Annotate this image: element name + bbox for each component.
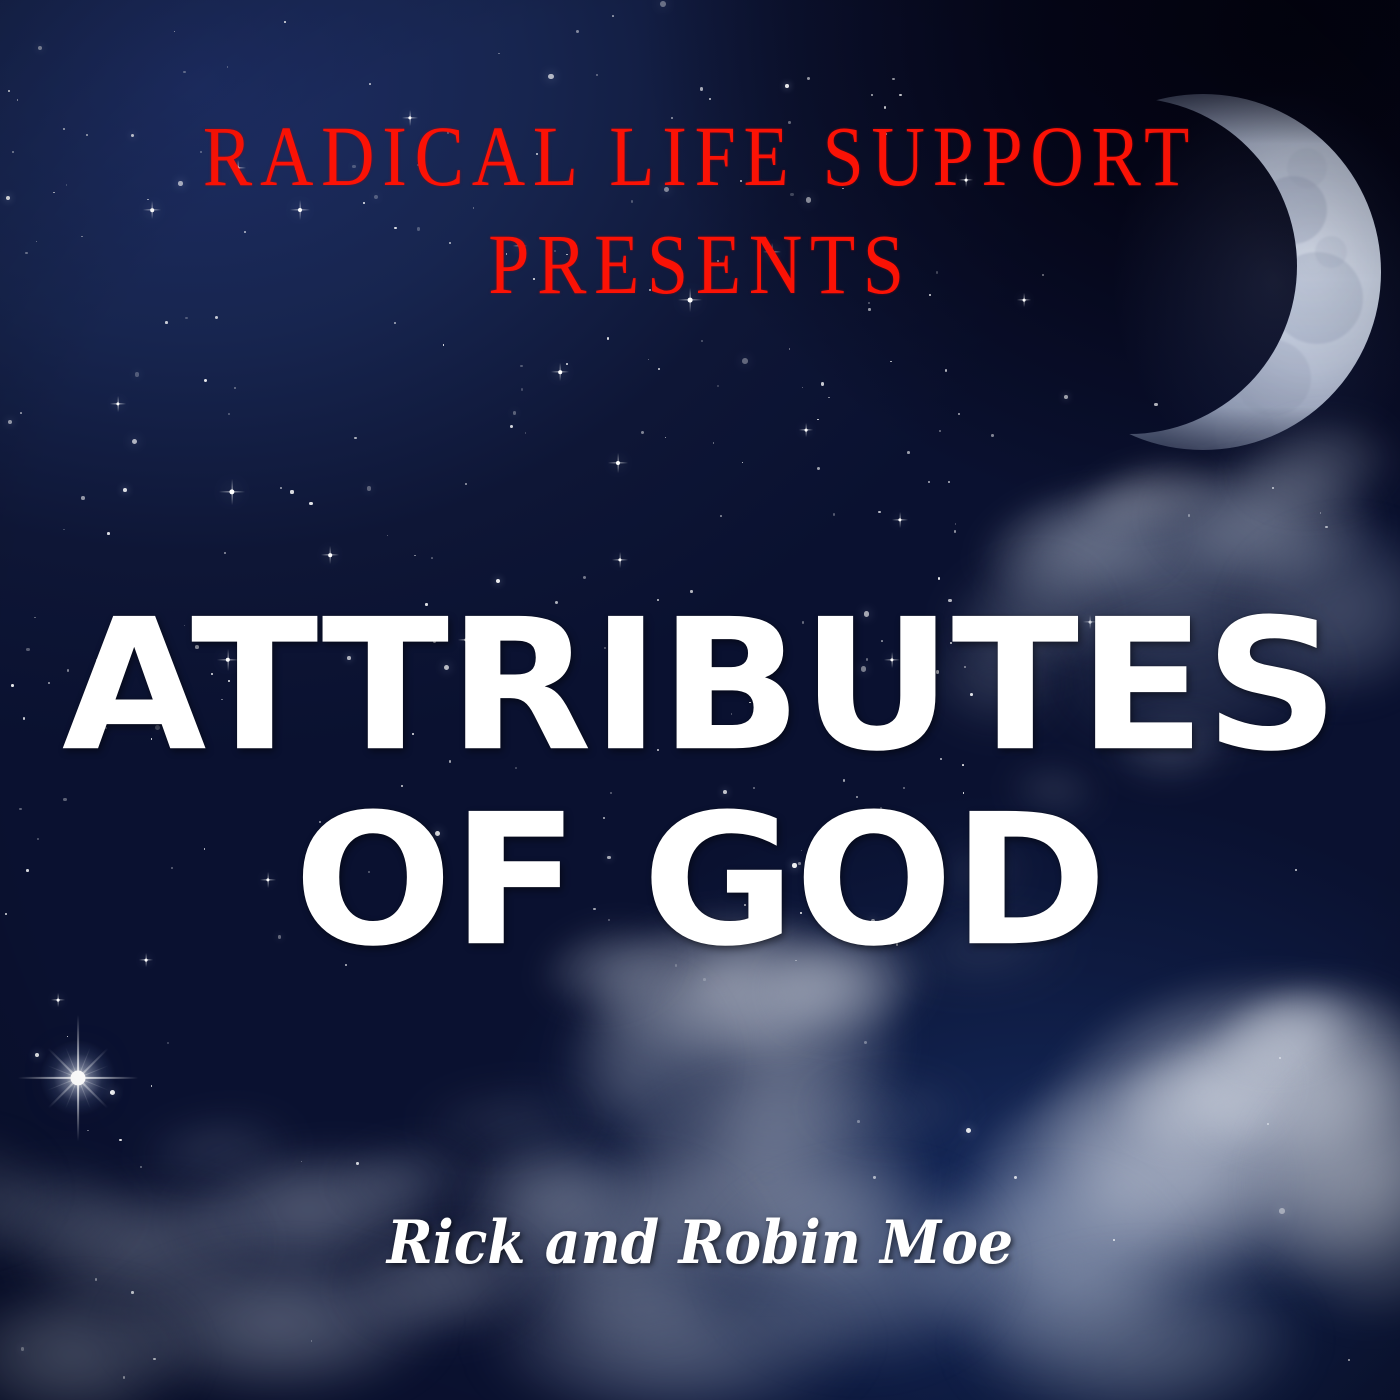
podcast-cover-art: RADICAL LIFE SUPPORT PRESENTS ATTRIBUTES… [0, 0, 1400, 1400]
vignette-overlay [0, 0, 1400, 1400]
